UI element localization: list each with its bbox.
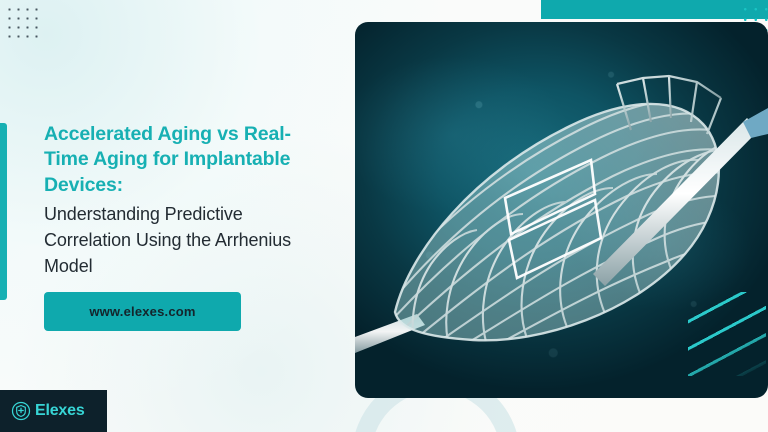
- teal-accent-bar-left: [0, 123, 7, 300]
- diagonal-stripes-icon: [688, 292, 766, 376]
- title-card: Accelerated Aging vs Real-Time Aging for…: [0, 0, 768, 432]
- headline-block: Accelerated Aging vs Real-Time Aging for…: [44, 122, 328, 279]
- brand-name: Elexes: [35, 402, 85, 420]
- dot-grid-top-left-icon: [5, 5, 38, 38]
- teal-bar-top-right: [541, 0, 768, 19]
- brand-logo[interactable]: Elexes: [0, 390, 107, 432]
- page-subtitle: Understanding Predictive Correlation Usi…: [44, 201, 328, 279]
- hero-image-card: [355, 22, 768, 398]
- shield-medical-cross-icon: [11, 401, 31, 421]
- page-title: Accelerated Aging vs Real-Time Aging for…: [44, 122, 328, 198]
- website-url-button[interactable]: www.elexes.com: [44, 292, 241, 331]
